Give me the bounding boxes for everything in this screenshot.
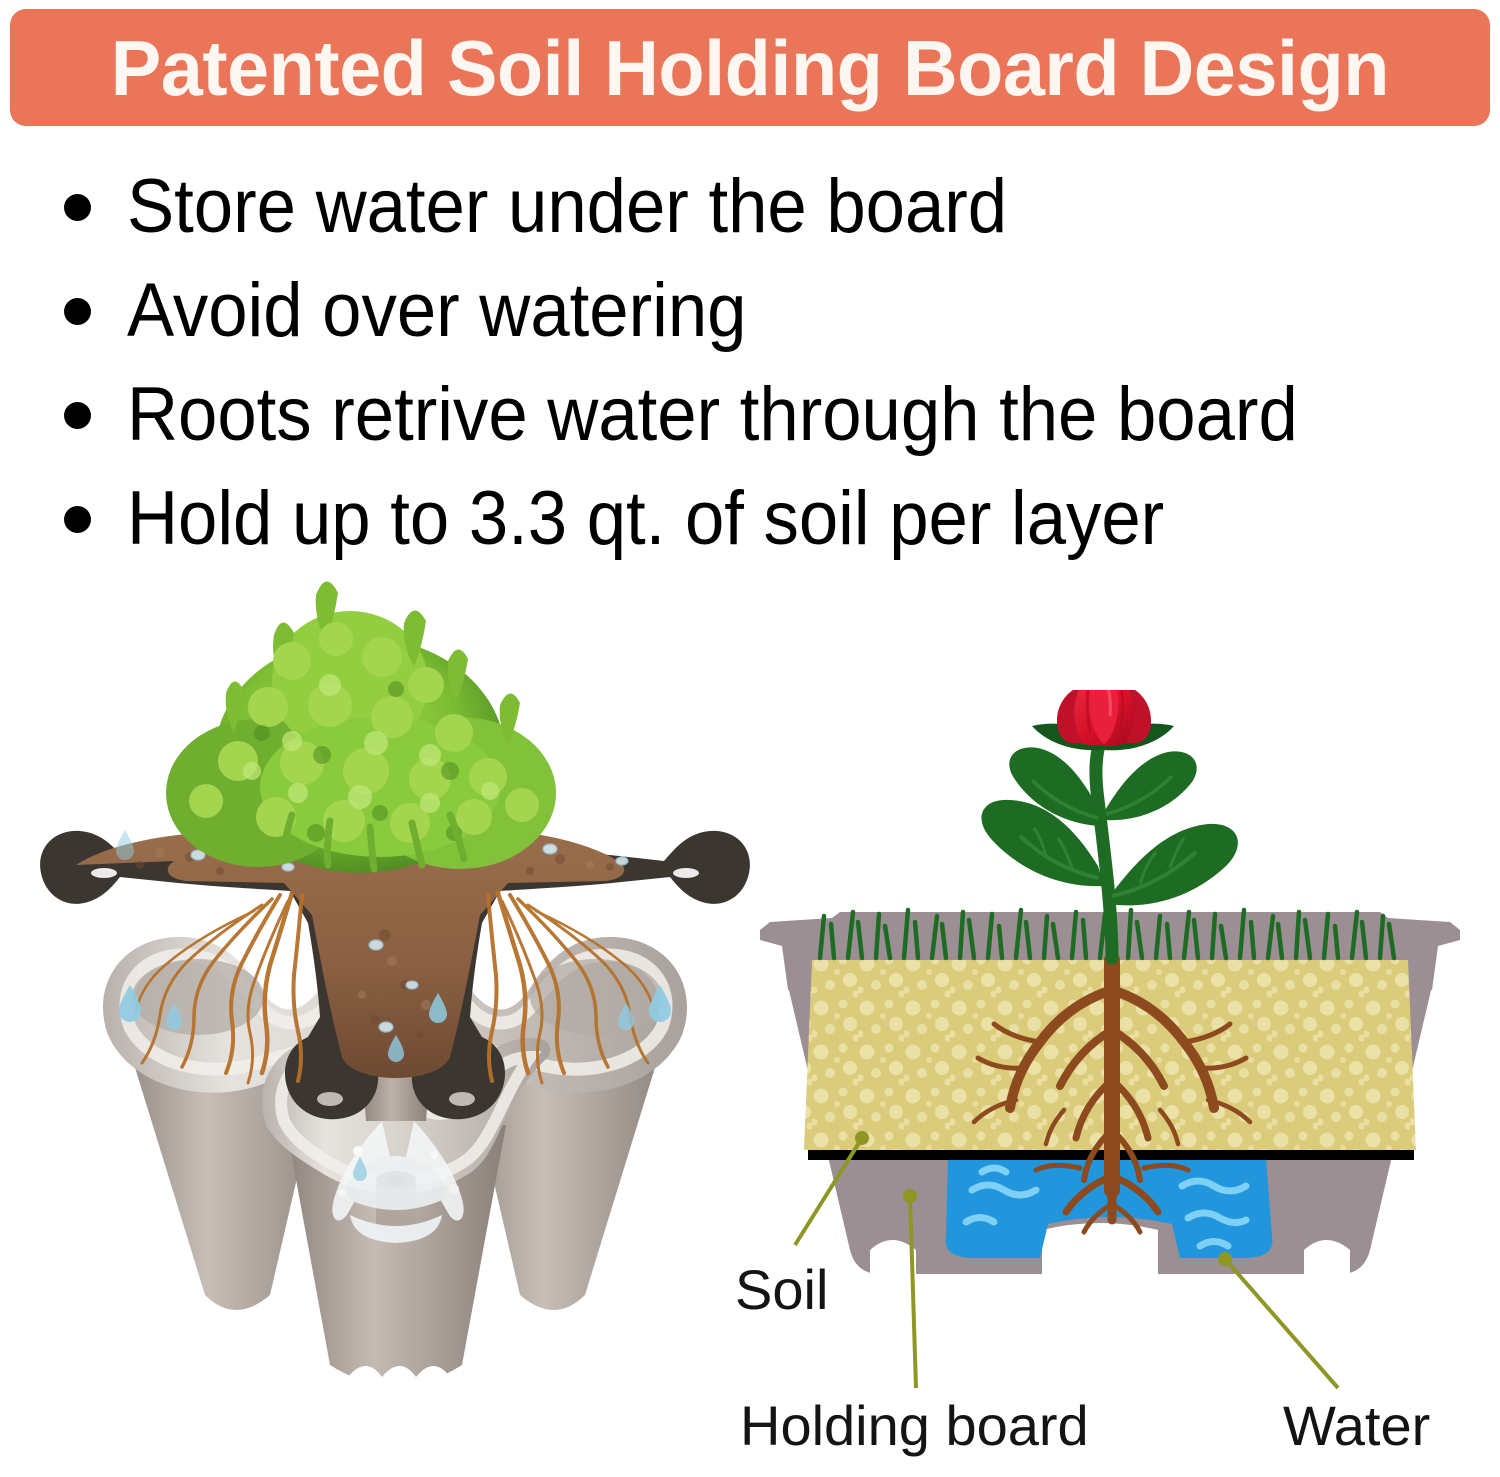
list-item: Store water under the board (50, 155, 1470, 259)
list-item: Roots retrive water through the board (50, 363, 1470, 467)
callout-label-holding-board: Holding board (740, 1398, 1089, 1454)
callout-label-water: Water (1283, 1398, 1430, 1454)
rose-flower (1057, 690, 1151, 746)
bullet-text: Hold up to 3.3 qt. of soil per layer (127, 481, 1164, 557)
bullet-dot-icon (64, 402, 91, 429)
feature-bullet-list: Store water under the board Avoid over w… (50, 155, 1470, 571)
list-item: Avoid over watering (50, 259, 1470, 363)
green-foliage-plant (166, 581, 556, 873)
bullet-dot-icon (64, 506, 91, 533)
bullet-dot-icon (64, 194, 91, 221)
pot-cross-section-diagram (720, 690, 1500, 1330)
callout-label-soil: Soil (735, 1262, 828, 1318)
bullet-dot-icon (64, 298, 91, 325)
bullet-text: Store water under the board (127, 169, 1007, 245)
bullet-text: Roots retrive water through the board (127, 377, 1298, 453)
page-title: Patented Soil Holding Board Design (111, 29, 1389, 107)
list-item: Hold up to 3.3 qt. of soil per layer (50, 467, 1470, 571)
infographic-root: Patented Soil Holding Board Design Store… (0, 0, 1500, 1477)
stackable-planter-product-photo (30, 565, 760, 1465)
bullet-text: Avoid over watering (127, 273, 746, 349)
header-banner: Patented Soil Holding Board Design (10, 9, 1490, 126)
